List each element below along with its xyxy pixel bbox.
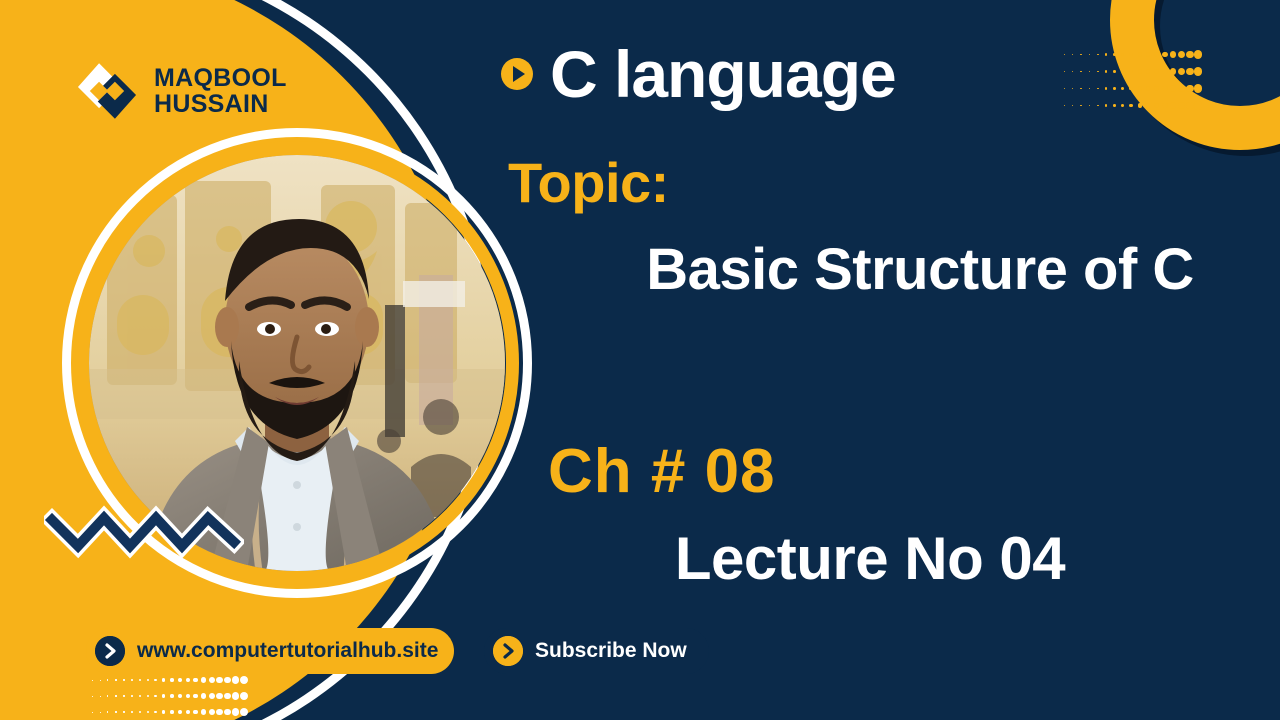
halftone-dot <box>147 679 149 681</box>
halftone-dot <box>131 679 133 681</box>
halftone-dot <box>100 680 101 681</box>
subscribe-label: Subscribe Now <box>535 639 687 663</box>
play-circle-icon <box>500 57 534 91</box>
halftone-dot <box>186 678 190 682</box>
halftone-dot <box>139 695 141 697</box>
halftone-dot <box>178 694 182 698</box>
content-column: C language Topic: Basic Structure of C C… <box>490 0 1280 720</box>
halftone-dot <box>193 678 198 683</box>
halftone-dot <box>216 677 222 683</box>
halftone-dot <box>224 709 231 716</box>
website-link[interactable]: www.computertutorialhub.site <box>86 628 454 674</box>
interlocking-diamonds-logo-icon <box>74 58 140 124</box>
halftone-dot <box>201 677 206 682</box>
footer-bar: Subscribe Now www.computertutorialhub.si… <box>86 628 454 674</box>
brand-name-line2: HUSSAIN <box>154 91 287 117</box>
halftone-dot <box>107 711 108 712</box>
halftone-dot <box>131 695 133 697</box>
halftone-dot <box>240 692 248 700</box>
halftone-dot <box>232 692 239 699</box>
halftone-dot <box>154 695 157 698</box>
halftone-dot <box>123 679 124 680</box>
halftone-dot <box>139 679 141 681</box>
halftone-dot <box>178 710 182 714</box>
halftone-dot <box>216 709 222 715</box>
halftone-dot <box>92 696 93 697</box>
page-title: C language <box>550 36 896 112</box>
halftone-dot <box>100 712 101 713</box>
halftone-dot <box>154 711 157 714</box>
halftone-dot <box>170 694 174 698</box>
halftone-dot <box>209 677 215 683</box>
topic-label: Topic: <box>508 150 669 215</box>
halftone-dot <box>232 676 239 683</box>
halftone-dot <box>201 693 206 698</box>
halftone-dot <box>240 676 248 684</box>
halftone-dot <box>123 711 124 712</box>
halftone-dot <box>162 694 165 697</box>
brand-name: MAQBOOL HUSSAIN <box>154 65 287 117</box>
zigzag-decoration-icon <box>44 492 244 560</box>
halftone-dot <box>107 679 108 680</box>
halftone-dot <box>92 680 93 681</box>
halftone-dot <box>154 679 157 682</box>
brand-name-line1: MAQBOOL <box>154 65 287 91</box>
halftone-dot <box>162 678 165 681</box>
halftone-dot <box>209 693 215 699</box>
topic-subject: Basic Structure of C <box>550 238 1280 303</box>
halftone-dot <box>193 710 198 715</box>
halftone-dot <box>115 679 116 680</box>
halftone-dot <box>123 695 124 696</box>
halftone-dot <box>209 709 215 715</box>
brand-logo: MAQBOOL HUSSAIN <box>74 58 287 124</box>
halftone-dot <box>178 678 182 682</box>
halftone-dot <box>201 709 206 714</box>
halftone-dot <box>107 695 108 696</box>
halftone-dot <box>100 696 101 697</box>
title-row: C language <box>500 36 896 112</box>
halftone-dot <box>216 693 222 699</box>
halftone-row <box>88 672 248 688</box>
halftone-dot <box>92 712 93 713</box>
halftone-dot <box>193 694 198 699</box>
halftone-dot <box>224 677 231 684</box>
chapter-number: Ch # 08 <box>548 436 776 507</box>
halftone-dot <box>162 710 165 713</box>
halftone-row <box>88 688 248 704</box>
chevron-right-icon <box>95 636 125 666</box>
halftone-dot <box>170 710 174 714</box>
thumbnail-canvas: MAQBOOL HUSSAIN <box>0 0 1280 720</box>
halftone-dot <box>186 710 190 714</box>
halftone-dot <box>131 711 133 713</box>
halftone-dot <box>115 711 116 712</box>
halftone-dot <box>224 693 231 700</box>
halftone-dot <box>232 708 239 715</box>
website-url: www.computertutorialhub.site <box>137 639 438 663</box>
halftone-row <box>88 704 248 720</box>
halftone-dot <box>170 678 174 682</box>
subscribe-button[interactable]: Subscribe Now <box>484 628 709 674</box>
halftone-dot <box>186 694 190 698</box>
halftone-dot <box>147 695 149 697</box>
halftone-dot <box>240 708 248 716</box>
halftone-dot <box>139 711 141 713</box>
lecture-number: Lecture No 04 <box>490 524 1250 593</box>
halftone-dot <box>115 695 116 696</box>
chevron-right-icon <box>493 636 523 666</box>
halftone-dot <box>147 711 149 713</box>
